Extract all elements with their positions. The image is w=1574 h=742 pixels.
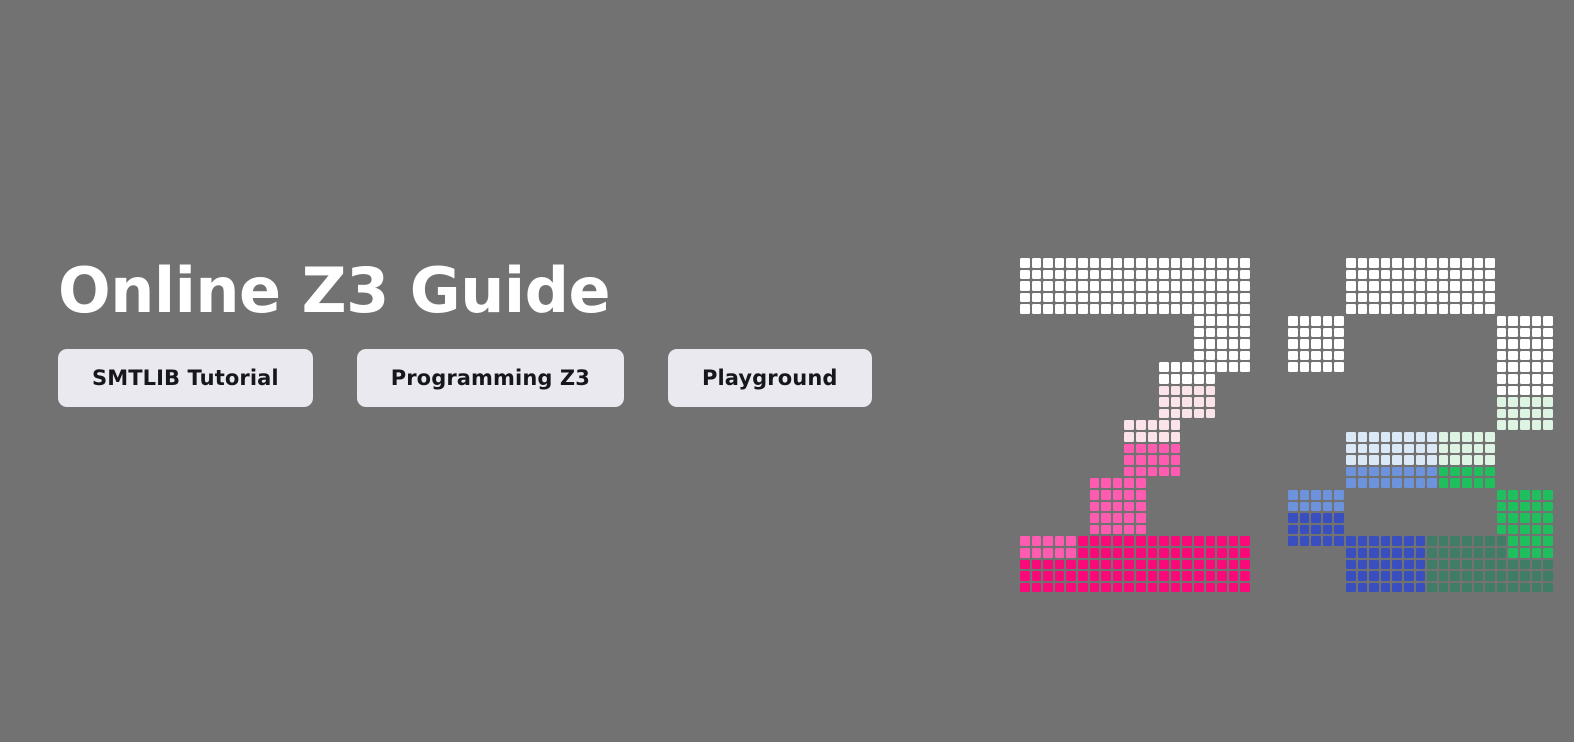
- logo-pixel: [1090, 583, 1100, 593]
- logo-pixel: [1462, 548, 1472, 558]
- logo-pixel: [1427, 536, 1437, 546]
- logo-pixel: [1508, 362, 1518, 372]
- logo-pixel: [1543, 316, 1553, 326]
- logo-pixel: [1055, 536, 1065, 546]
- logo-pixel: [1159, 432, 1169, 442]
- logo-pixel: [1381, 478, 1391, 488]
- logo-pixel: [1439, 536, 1449, 546]
- logo-pixel: [1101, 583, 1111, 593]
- logo-pixel: [1543, 583, 1553, 593]
- logo-pixel: [1124, 571, 1134, 581]
- logo-pixel: [1404, 432, 1414, 442]
- logo-pixel: [1066, 560, 1076, 570]
- logo-pixel: [1323, 339, 1333, 349]
- logo-pixel: [1497, 513, 1507, 523]
- logo-pixel: [1194, 397, 1204, 407]
- logo-pixel: [1346, 583, 1356, 593]
- logo-pixel: [1439, 304, 1449, 314]
- logo-pixel: [1300, 513, 1310, 523]
- logo-pixel: [1462, 467, 1472, 477]
- logo-pixel: [1485, 281, 1495, 291]
- logo-pixel: [1043, 583, 1053, 593]
- logo-pixel: [1439, 455, 1449, 465]
- logo-pixel: [1090, 513, 1100, 523]
- logo-pixel: [1136, 502, 1146, 512]
- logo-pixel: [1206, 409, 1216, 419]
- logo-pixel: [1113, 478, 1123, 488]
- logo-pixel: [1404, 304, 1414, 314]
- logo-pixel: [1439, 560, 1449, 570]
- logo-pixel: [1474, 293, 1484, 303]
- logo-pixel: [1043, 293, 1053, 303]
- logo-pixel: [1450, 281, 1460, 291]
- logo-pixel: [1206, 328, 1216, 338]
- logo-pixel: [1078, 281, 1088, 291]
- logo-pixel: [1427, 293, 1437, 303]
- logo-pixel: [1090, 525, 1100, 535]
- logo-pixel: [1182, 583, 1192, 593]
- logo-pixel: [1136, 455, 1146, 465]
- logo-pixel: [1043, 258, 1053, 268]
- logo-pixel: [1543, 362, 1553, 372]
- logo-pixel: [1229, 560, 1239, 570]
- logo-pixel: [1055, 571, 1065, 581]
- logo-pixel: [1358, 304, 1368, 314]
- logo-pixel: [1346, 281, 1356, 291]
- logo-pixel: [1474, 304, 1484, 314]
- logo-pixel: [1194, 293, 1204, 303]
- logo-pixel: [1020, 548, 1030, 558]
- logo-pixel: [1148, 281, 1158, 291]
- logo-pixel: [1124, 293, 1134, 303]
- logo-pixel: [1124, 258, 1134, 268]
- logo-pixel: [1485, 304, 1495, 314]
- logo-pixel: [1066, 258, 1076, 268]
- logo-pixel: [1078, 548, 1088, 558]
- logo-pixel: [1369, 571, 1379, 581]
- logo-pixel: [1427, 281, 1437, 291]
- logo-pixel: [1358, 444, 1368, 454]
- logo-pixel: [1043, 281, 1053, 291]
- logo-pixel: [1101, 490, 1111, 500]
- logo-pixel: [1217, 536, 1227, 546]
- logo-pixel: [1427, 304, 1437, 314]
- playground-button[interactable]: Playground: [668, 349, 872, 407]
- logo-pixel: [1148, 293, 1158, 303]
- logo-pixel: [1485, 270, 1495, 280]
- logo-pixel: [1358, 583, 1368, 593]
- logo-pixel: [1124, 478, 1134, 488]
- logo-pixel: [1381, 258, 1391, 268]
- logo-pixel: [1404, 548, 1414, 558]
- logo-pixel: [1288, 525, 1298, 535]
- logo-pixel: [1323, 316, 1333, 326]
- logo-pixel: [1450, 548, 1460, 558]
- smtlib-tutorial-button[interactable]: SMTLIB Tutorial: [58, 349, 313, 407]
- logo-pixel: [1543, 397, 1553, 407]
- logo-pixel: [1171, 560, 1181, 570]
- logo-pixel: [1485, 467, 1495, 477]
- logo-pixel: [1497, 328, 1507, 338]
- logo-pixel: [1136, 490, 1146, 500]
- logo-pixel: [1171, 304, 1181, 314]
- logo-pixel: [1229, 536, 1239, 546]
- logo-pixel: [1427, 270, 1437, 280]
- logo-pixel: [1206, 386, 1216, 396]
- logo-pixel: [1020, 270, 1030, 280]
- logo-pixel: [1043, 548, 1053, 558]
- logo-pixel: [1066, 281, 1076, 291]
- logo-pixel: [1136, 281, 1146, 291]
- logo-pixel: [1334, 328, 1344, 338]
- logo-pixel: [1404, 583, 1414, 593]
- logo-pixel: [1532, 316, 1542, 326]
- logo-pixel: [1543, 351, 1553, 361]
- logo-pixel: [1358, 536, 1368, 546]
- logo-pixel: [1148, 270, 1158, 280]
- logo-pixel: [1240, 316, 1250, 326]
- logo-pixel: [1334, 362, 1344, 372]
- logo-pixel: [1078, 560, 1088, 570]
- logo-pixel: [1090, 281, 1100, 291]
- logo-pixel: [1439, 258, 1449, 268]
- logo-pixel: [1520, 560, 1530, 570]
- logo-pixel: [1392, 258, 1402, 268]
- logo-pixel: [1240, 583, 1250, 593]
- logo-pixel: [1485, 548, 1495, 558]
- logo-pixel: [1113, 281, 1123, 291]
- logo-pixel: [1171, 548, 1181, 558]
- logo-pixel: [1520, 502, 1530, 512]
- logo-pixel: [1124, 420, 1134, 430]
- logo-pixel: [1194, 351, 1204, 361]
- logo-pixel: [1020, 281, 1030, 291]
- logo-pixel: [1427, 583, 1437, 593]
- logo-pixel: [1194, 270, 1204, 280]
- logo-pixel: [1032, 583, 1042, 593]
- logo-pixel: [1182, 362, 1192, 372]
- logo-pixel: [1532, 374, 1542, 384]
- logo-pixel: [1206, 560, 1216, 570]
- logo-pixel: [1090, 502, 1100, 512]
- logo-pixel: [1300, 502, 1310, 512]
- logo-pixel: [1311, 351, 1321, 361]
- logo-pixel: [1485, 455, 1495, 465]
- logo-pixel: [1497, 490, 1507, 500]
- logo-pixel: [1392, 304, 1402, 314]
- logo-pixel: [1229, 328, 1239, 338]
- logo-pixel: [1101, 478, 1111, 488]
- logo-pixel: [1427, 571, 1437, 581]
- logo-pixel: [1508, 583, 1518, 593]
- logo-pixel: [1358, 560, 1368, 570]
- logo-pixel: [1346, 560, 1356, 570]
- logo-pixel: [1136, 513, 1146, 523]
- logo-pixel: [1532, 513, 1542, 523]
- logo-pixel: [1229, 583, 1239, 593]
- logo-pixel: [1462, 478, 1472, 488]
- logo-pixel: [1288, 502, 1298, 512]
- logo-pixel: [1113, 525, 1123, 535]
- logo-pixel: [1416, 304, 1426, 314]
- logo-pixel: [1206, 571, 1216, 581]
- logo-pixel: [1206, 293, 1216, 303]
- logo-pixel: [1439, 281, 1449, 291]
- logo-pixel: [1462, 583, 1472, 593]
- logo-pixel: [1497, 374, 1507, 384]
- logo-pixel: [1171, 583, 1181, 593]
- logo-pixel: [1159, 270, 1169, 280]
- logo-pixel: [1520, 316, 1530, 326]
- logo-pixel: [1159, 258, 1169, 268]
- logo-pixel: [1532, 339, 1542, 349]
- logo-pixel: [1450, 560, 1460, 570]
- logo-pixel: [1090, 478, 1100, 488]
- logo-pixel: [1217, 293, 1227, 303]
- logo-pixel: [1194, 374, 1204, 384]
- logo-pixel: [1474, 467, 1484, 477]
- logo-pixel: [1416, 467, 1426, 477]
- logo-pixel: [1474, 478, 1484, 488]
- logo-pixel: [1497, 583, 1507, 593]
- logo-pixel: [1124, 560, 1134, 570]
- logo-pixel: [1485, 560, 1495, 570]
- logo-pixel: [1113, 536, 1123, 546]
- logo-pixel: [1182, 293, 1192, 303]
- logo-pixel: [1334, 513, 1344, 523]
- logo-pixel: [1532, 362, 1542, 372]
- logo-pixel: [1240, 270, 1250, 280]
- logo-pixel: [1090, 304, 1100, 314]
- logo-pixel: [1159, 571, 1169, 581]
- logo-pixel: [1194, 571, 1204, 581]
- logo-pixel: [1182, 386, 1192, 396]
- logo-pixel: [1159, 409, 1169, 419]
- cta-button-row: SMTLIB TutorialProgramming Z3Playground: [58, 349, 958, 407]
- logo-pixel: [1497, 316, 1507, 326]
- logo-pixel: [1090, 258, 1100, 268]
- logo-pixel: [1508, 536, 1518, 546]
- logo-pixel: [1439, 444, 1449, 454]
- logo-pixel: [1508, 525, 1518, 535]
- logo-pixel: [1392, 281, 1402, 291]
- hero-section: Online Z3 Guide SMTLIB TutorialProgrammi…: [0, 0, 1574, 742]
- logo-pixel: [1404, 571, 1414, 581]
- logo-pixel: [1369, 293, 1379, 303]
- logo-pixel: [1392, 478, 1402, 488]
- logo-pixel: [1427, 444, 1437, 454]
- logo-pixel: [1229, 281, 1239, 291]
- logo-pixel: [1520, 397, 1530, 407]
- logo-pixel: [1532, 583, 1542, 593]
- logo-pixel: [1032, 560, 1042, 570]
- logo-pixel: [1392, 548, 1402, 558]
- logo-pixel: [1543, 560, 1553, 570]
- logo-pixel: [1171, 455, 1181, 465]
- logo-pixel: [1217, 281, 1227, 291]
- logo-pixel: [1124, 583, 1134, 593]
- logo-pixel: [1427, 432, 1437, 442]
- logo-pixel: [1066, 548, 1076, 558]
- logo-pixel: [1439, 548, 1449, 558]
- logo-pixel: [1020, 304, 1030, 314]
- logo-pixel: [1300, 316, 1310, 326]
- logo-pixel: [1311, 513, 1321, 523]
- logo-pixel: [1240, 571, 1250, 581]
- logo-pixel: [1229, 571, 1239, 581]
- logo-pixel: [1032, 293, 1042, 303]
- logo-pixel: [1159, 444, 1169, 454]
- logo-pixel: [1055, 304, 1065, 314]
- logo-pixel: [1124, 513, 1134, 523]
- logo-pixel: [1055, 270, 1065, 280]
- logo-pixel: [1194, 328, 1204, 338]
- logo-pixel: [1055, 293, 1065, 303]
- logo-pixel: [1346, 571, 1356, 581]
- logo-pixel: [1520, 374, 1530, 384]
- logo-pixel: [1497, 571, 1507, 581]
- logo-pixel: [1474, 560, 1484, 570]
- logo-pixel: [1101, 304, 1111, 314]
- logo-pixel: [1543, 328, 1553, 338]
- logo-pixel: [1159, 455, 1169, 465]
- logo-pixel: [1508, 397, 1518, 407]
- logo-pixel: [1323, 525, 1333, 535]
- programming-z3-button[interactable]: Programming Z3: [357, 349, 624, 407]
- logo-pixel: [1182, 270, 1192, 280]
- logo-pixel: [1416, 560, 1426, 570]
- logo-pixel: [1171, 420, 1181, 430]
- logo-pixel: [1217, 362, 1227, 372]
- logo-pixel: [1311, 362, 1321, 372]
- logo-pixel: [1171, 258, 1181, 268]
- logo-pixel: [1497, 409, 1507, 419]
- logo-pixel: [1159, 536, 1169, 546]
- logo-pixel: [1369, 478, 1379, 488]
- logo-pixel: [1543, 409, 1553, 419]
- logo-pixel: [1404, 467, 1414, 477]
- logo-pixel: [1508, 490, 1518, 500]
- logo-pixel: [1300, 339, 1310, 349]
- logo-pixel: [1485, 444, 1495, 454]
- logo-pixel: [1124, 444, 1134, 454]
- logo-pixel: [1159, 467, 1169, 477]
- logo-pixel: [1240, 281, 1250, 291]
- logo-pixel: [1240, 293, 1250, 303]
- logo-pixel: [1101, 293, 1111, 303]
- logo-pixel: [1171, 571, 1181, 581]
- logo-pixel: [1392, 444, 1402, 454]
- logo-pixel: [1066, 270, 1076, 280]
- logo-pixel: [1474, 444, 1484, 454]
- logo-pixel: [1206, 351, 1216, 361]
- logo-pixel: [1508, 560, 1518, 570]
- logo-pixel: [1032, 270, 1042, 280]
- logo-pixel: [1148, 548, 1158, 558]
- logo-pixel: [1439, 478, 1449, 488]
- logo-pixel: [1229, 316, 1239, 326]
- logo-pixel: [1113, 583, 1123, 593]
- logo-pixel: [1381, 304, 1391, 314]
- logo-pixel: [1240, 536, 1250, 546]
- logo-pixel: [1404, 270, 1414, 280]
- logo-pixel: [1229, 362, 1239, 372]
- logo-pixel: [1334, 536, 1344, 546]
- logo-pixel: [1171, 374, 1181, 384]
- logo-pixel: [1206, 270, 1216, 280]
- logo-pixel: [1416, 444, 1426, 454]
- logo-pixel: [1392, 560, 1402, 570]
- logo-pixel: [1508, 386, 1518, 396]
- logo-pixel: [1543, 571, 1553, 581]
- logo-pixel: [1124, 455, 1134, 465]
- logo-pixel: [1392, 455, 1402, 465]
- logo-pixel: [1532, 328, 1542, 338]
- logo-pixel: [1450, 270, 1460, 280]
- logo-pixel: [1381, 583, 1391, 593]
- logo-pixel: [1101, 525, 1111, 535]
- logo-pixel: [1532, 397, 1542, 407]
- logo-pixel: [1113, 258, 1123, 268]
- logo-pixel: [1532, 536, 1542, 546]
- logo-pixel: [1543, 374, 1553, 384]
- logo-pixel: [1346, 478, 1356, 488]
- logo-pixel: [1113, 571, 1123, 581]
- logo-pixel: [1485, 258, 1495, 268]
- logo-pixel: [1369, 281, 1379, 291]
- logo-pixel: [1078, 583, 1088, 593]
- logo-pixel: [1439, 293, 1449, 303]
- logo-pixel: [1136, 270, 1146, 280]
- logo-pixel: [1416, 548, 1426, 558]
- logo-pixel: [1288, 328, 1298, 338]
- logo-pixel: [1229, 351, 1239, 361]
- logo-pixel: [1543, 339, 1553, 349]
- logo-pixel: [1136, 467, 1146, 477]
- logo-pixel: [1078, 304, 1088, 314]
- logo-pixel: [1323, 328, 1333, 338]
- logo-pixel: [1182, 374, 1192, 384]
- logo-pixel: [1182, 397, 1192, 407]
- logo-pixel: [1369, 432, 1379, 442]
- logo-pixel: [1474, 571, 1484, 581]
- logo-pixel: [1171, 444, 1181, 454]
- logo-pixel: [1392, 536, 1402, 546]
- logo-pixel: [1124, 536, 1134, 546]
- logo-pixel: [1288, 339, 1298, 349]
- logo-pixel: [1474, 536, 1484, 546]
- logo-pixel: [1532, 502, 1542, 512]
- logo-pixel: [1124, 525, 1134, 535]
- logo-pixel: [1532, 386, 1542, 396]
- logo-pixel: [1462, 432, 1472, 442]
- logo-pixel: [1381, 281, 1391, 291]
- logo-pixel: [1078, 536, 1088, 546]
- logo-pixel: [1124, 502, 1134, 512]
- logo-pixel: [1358, 432, 1368, 442]
- logo-pixel: [1474, 270, 1484, 280]
- logo-pixel: [1543, 490, 1553, 500]
- logo-pixel: [1543, 548, 1553, 558]
- logo-pixel: [1159, 281, 1169, 291]
- logo-pixel: [1474, 548, 1484, 558]
- logo-pixel: [1288, 490, 1298, 500]
- logo-pixel: [1101, 258, 1111, 268]
- logo-pixel: [1090, 548, 1100, 558]
- logo-pixel: [1543, 525, 1553, 535]
- logo-pixel: [1358, 293, 1368, 303]
- logo-pixel: [1159, 583, 1169, 593]
